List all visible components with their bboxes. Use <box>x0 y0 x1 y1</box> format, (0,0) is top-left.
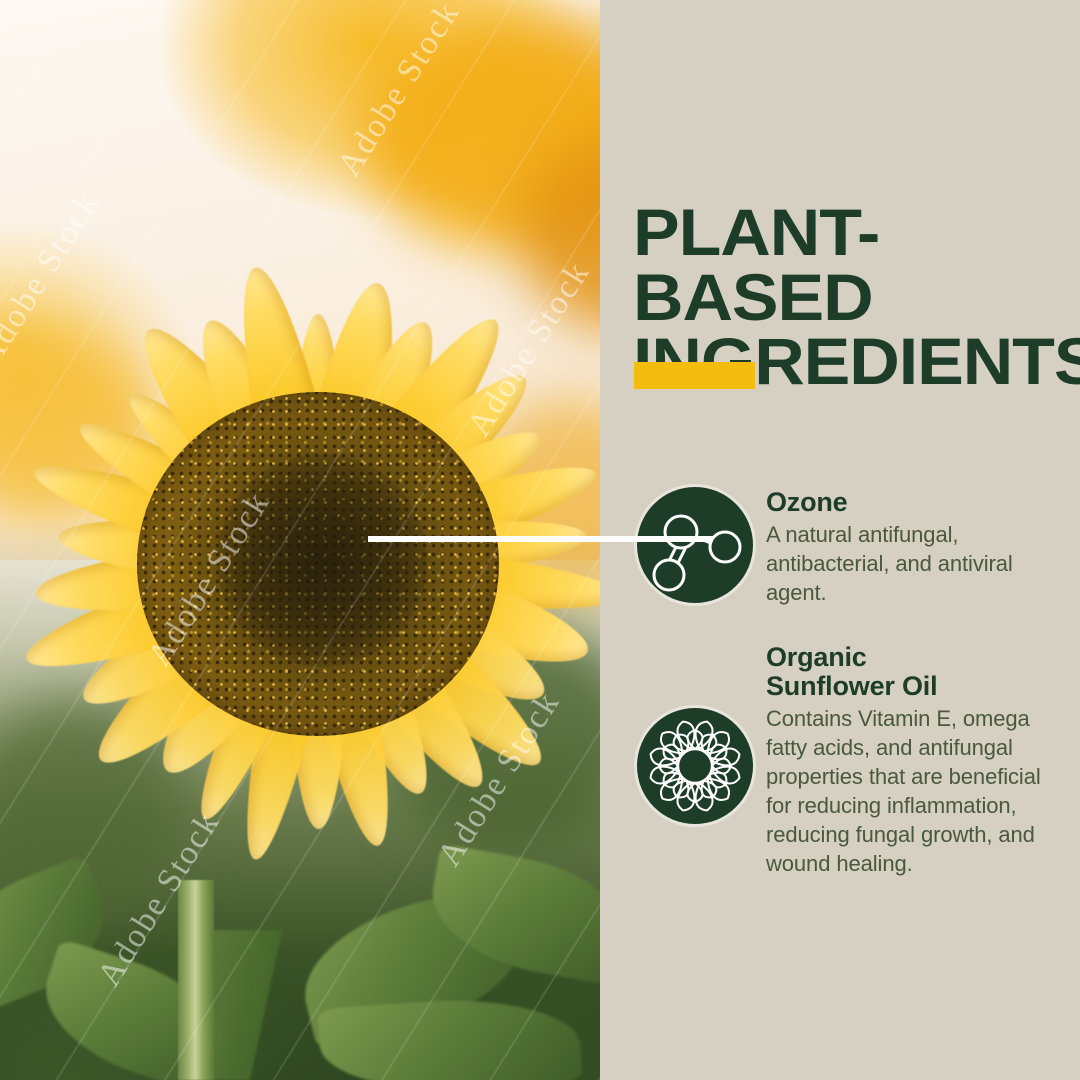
ingredient-description: Contains Vitamin E, omega fatty acids, a… <box>766 704 1066 878</box>
ozone-molecule-icon <box>637 487 753 603</box>
ingredient-title-line-2: Sunflower Oil <box>766 671 937 701</box>
ingredient-description: A natural antifungal, antibacterial, and… <box>766 520 1066 607</box>
ingredient-title: Ozone <box>766 488 1066 517</box>
disc-base <box>137 392 499 736</box>
disc-center-shadow <box>217 454 427 667</box>
ingredient-title: Organic Sunflower Oil <box>766 643 1066 701</box>
ingredient-title-line-1: Organic <box>766 642 867 672</box>
ingredient-text-ozone: Ozone A natural antifungal, antibacteria… <box>766 488 1066 607</box>
callout-connector-line <box>368 536 713 542</box>
infographic-canvas: Adobe Stock Adobe Stock Adobe Stock Adob… <box>0 0 1080 1080</box>
sunflower-disc <box>137 392 499 736</box>
accent-bar <box>634 362 755 389</box>
ingredient-text-sunflower-oil: Organic Sunflower Oil Contains Vitamin E… <box>766 643 1066 879</box>
sunflower-icon <box>637 708 753 824</box>
headline-line-1: PLANT-BASED <box>633 200 1080 329</box>
